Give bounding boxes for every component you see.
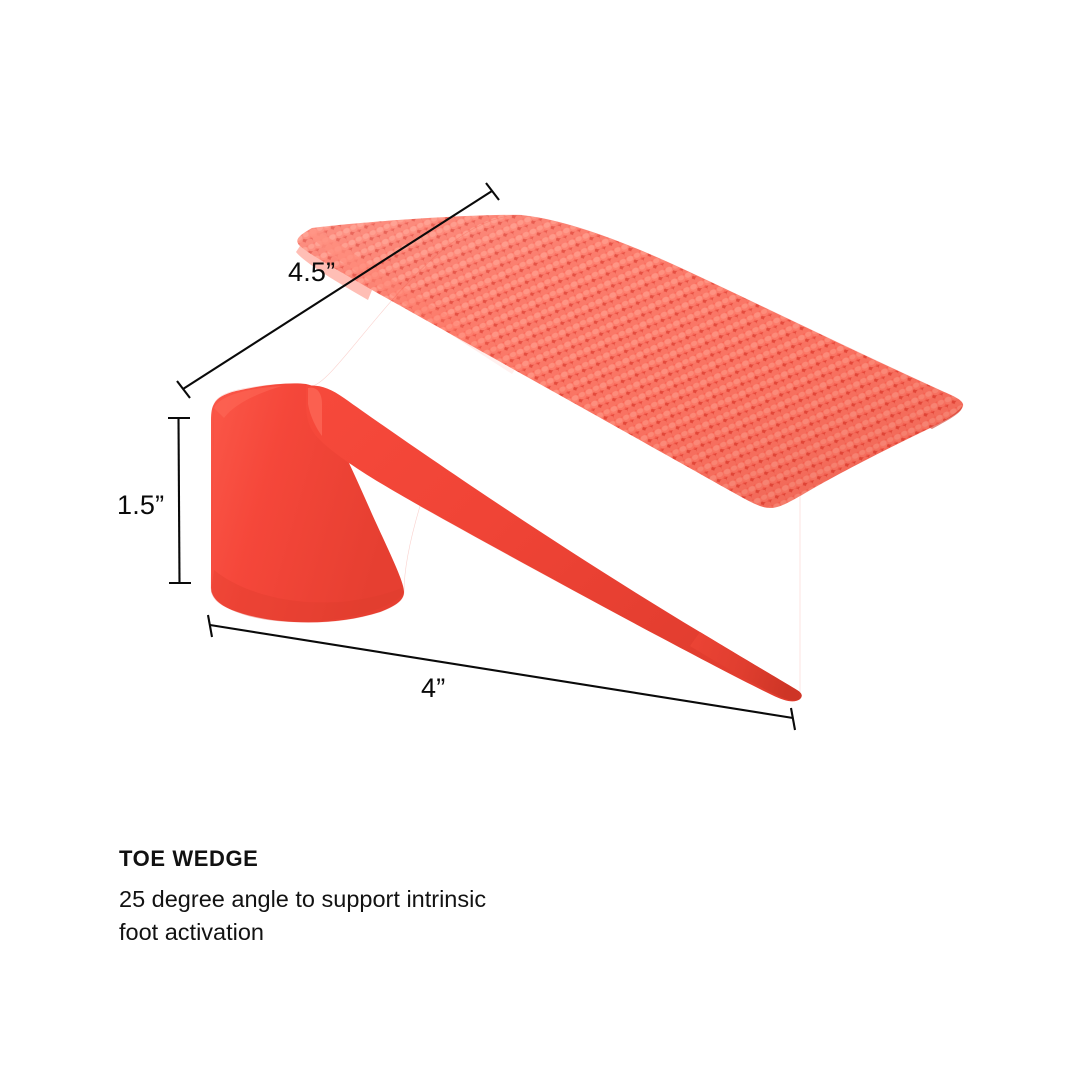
dimension-label-height: 1.5” bbox=[117, 492, 164, 519]
diagram-canvas: 4.5” 1.5” 4” TOE WEDGE 25 degree angle t… bbox=[0, 0, 1080, 1080]
dimension-label-depth: 4.5” bbox=[288, 259, 335, 286]
caption-block: TOE WEDGE 25 degree angle to support int… bbox=[119, 846, 639, 949]
dimension-label-width: 4” bbox=[421, 675, 445, 702]
product-title: TOE WEDGE bbox=[119, 846, 639, 872]
product-description: 25 degree angle to support intrinsic foo… bbox=[119, 883, 639, 949]
product-left-face bbox=[211, 383, 404, 622]
